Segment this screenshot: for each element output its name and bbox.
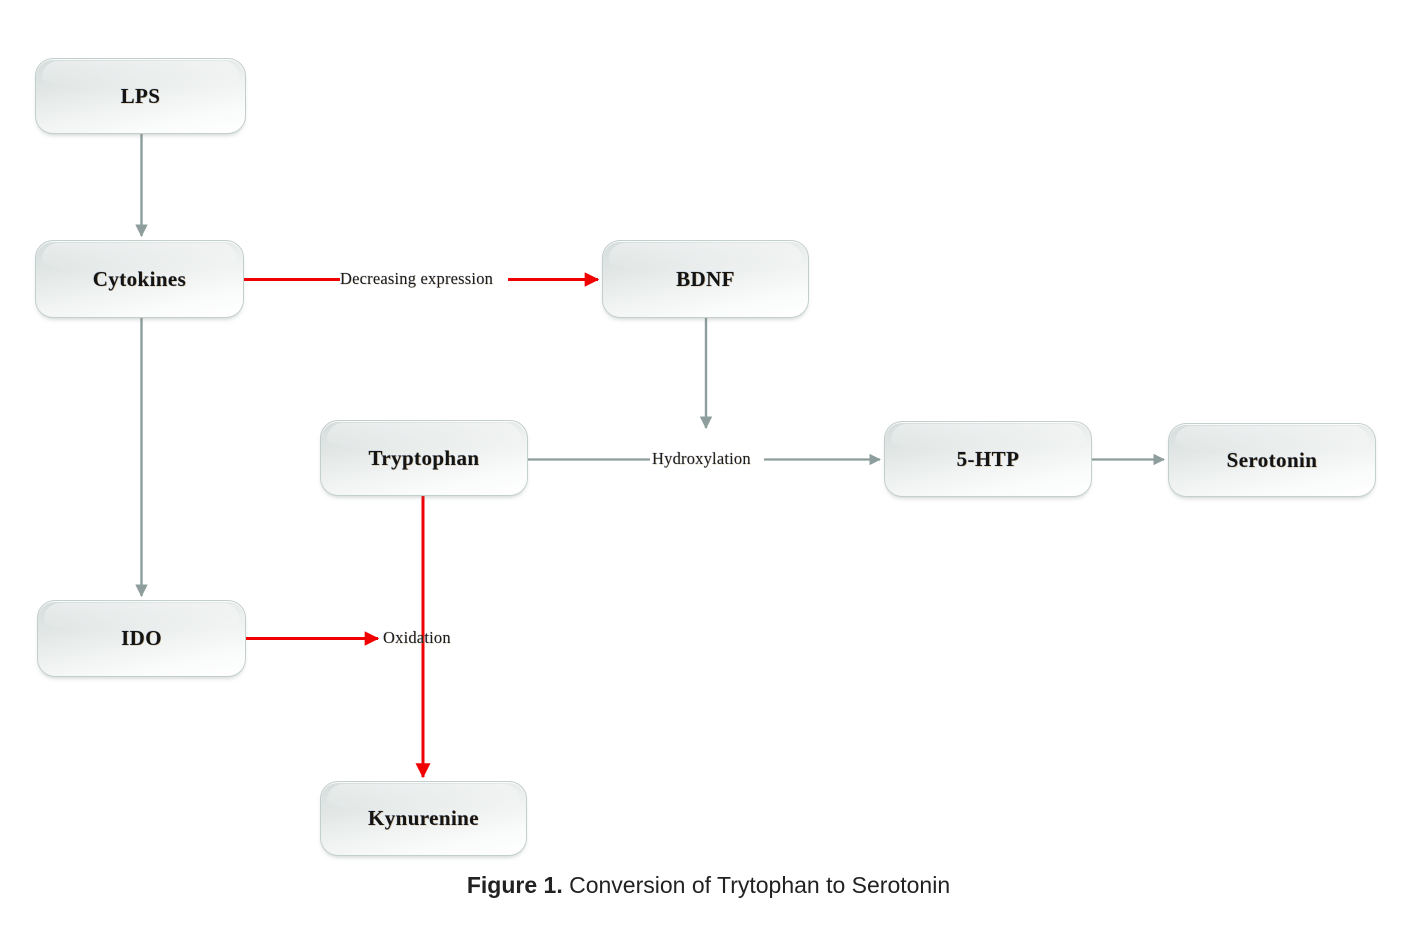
- node-bdnf[interactable]: BDNF: [602, 240, 809, 318]
- node-lps-label: LPS: [121, 84, 161, 109]
- edge-label-decreasing-expression: Decreasing expression: [340, 271, 493, 288]
- node-5-htp-label: 5-HTP: [957, 447, 1020, 472]
- figure-caption-text: Conversion of Trytophan to Serotonin: [563, 872, 950, 898]
- edge-label-hydroxylation: Hydroxylation: [652, 451, 751, 468]
- figure-caption-number: Figure 1.: [467, 872, 563, 898]
- figure-caption: Figure 1. Conversion of Trytophan to Ser…: [0, 872, 1417, 899]
- node-5-htp[interactable]: 5-HTP: [884, 421, 1092, 497]
- node-kynurenine-label: Kynurenine: [368, 806, 479, 831]
- node-ido[interactable]: IDO: [37, 600, 246, 677]
- figure-canvas: LPS Cytokines IDO BDNF Tryptophan 5-HTP …: [0, 0, 1417, 945]
- node-serotonin-label: Serotonin: [1227, 448, 1318, 473]
- node-lps[interactable]: LPS: [35, 58, 246, 134]
- node-ido-label: IDO: [121, 626, 162, 651]
- node-cytokines-label: Cytokines: [93, 267, 186, 292]
- node-serotonin[interactable]: Serotonin: [1168, 423, 1376, 497]
- node-tryptophan[interactable]: Tryptophan: [320, 420, 528, 496]
- node-bdnf-label: BDNF: [676, 267, 735, 292]
- node-cytokines[interactable]: Cytokines: [35, 240, 244, 318]
- node-kynurenine[interactable]: Kynurenine: [320, 781, 527, 856]
- edge-label-oxidation: Oxidation: [383, 630, 451, 647]
- node-tryptophan-label: Tryptophan: [369, 446, 480, 471]
